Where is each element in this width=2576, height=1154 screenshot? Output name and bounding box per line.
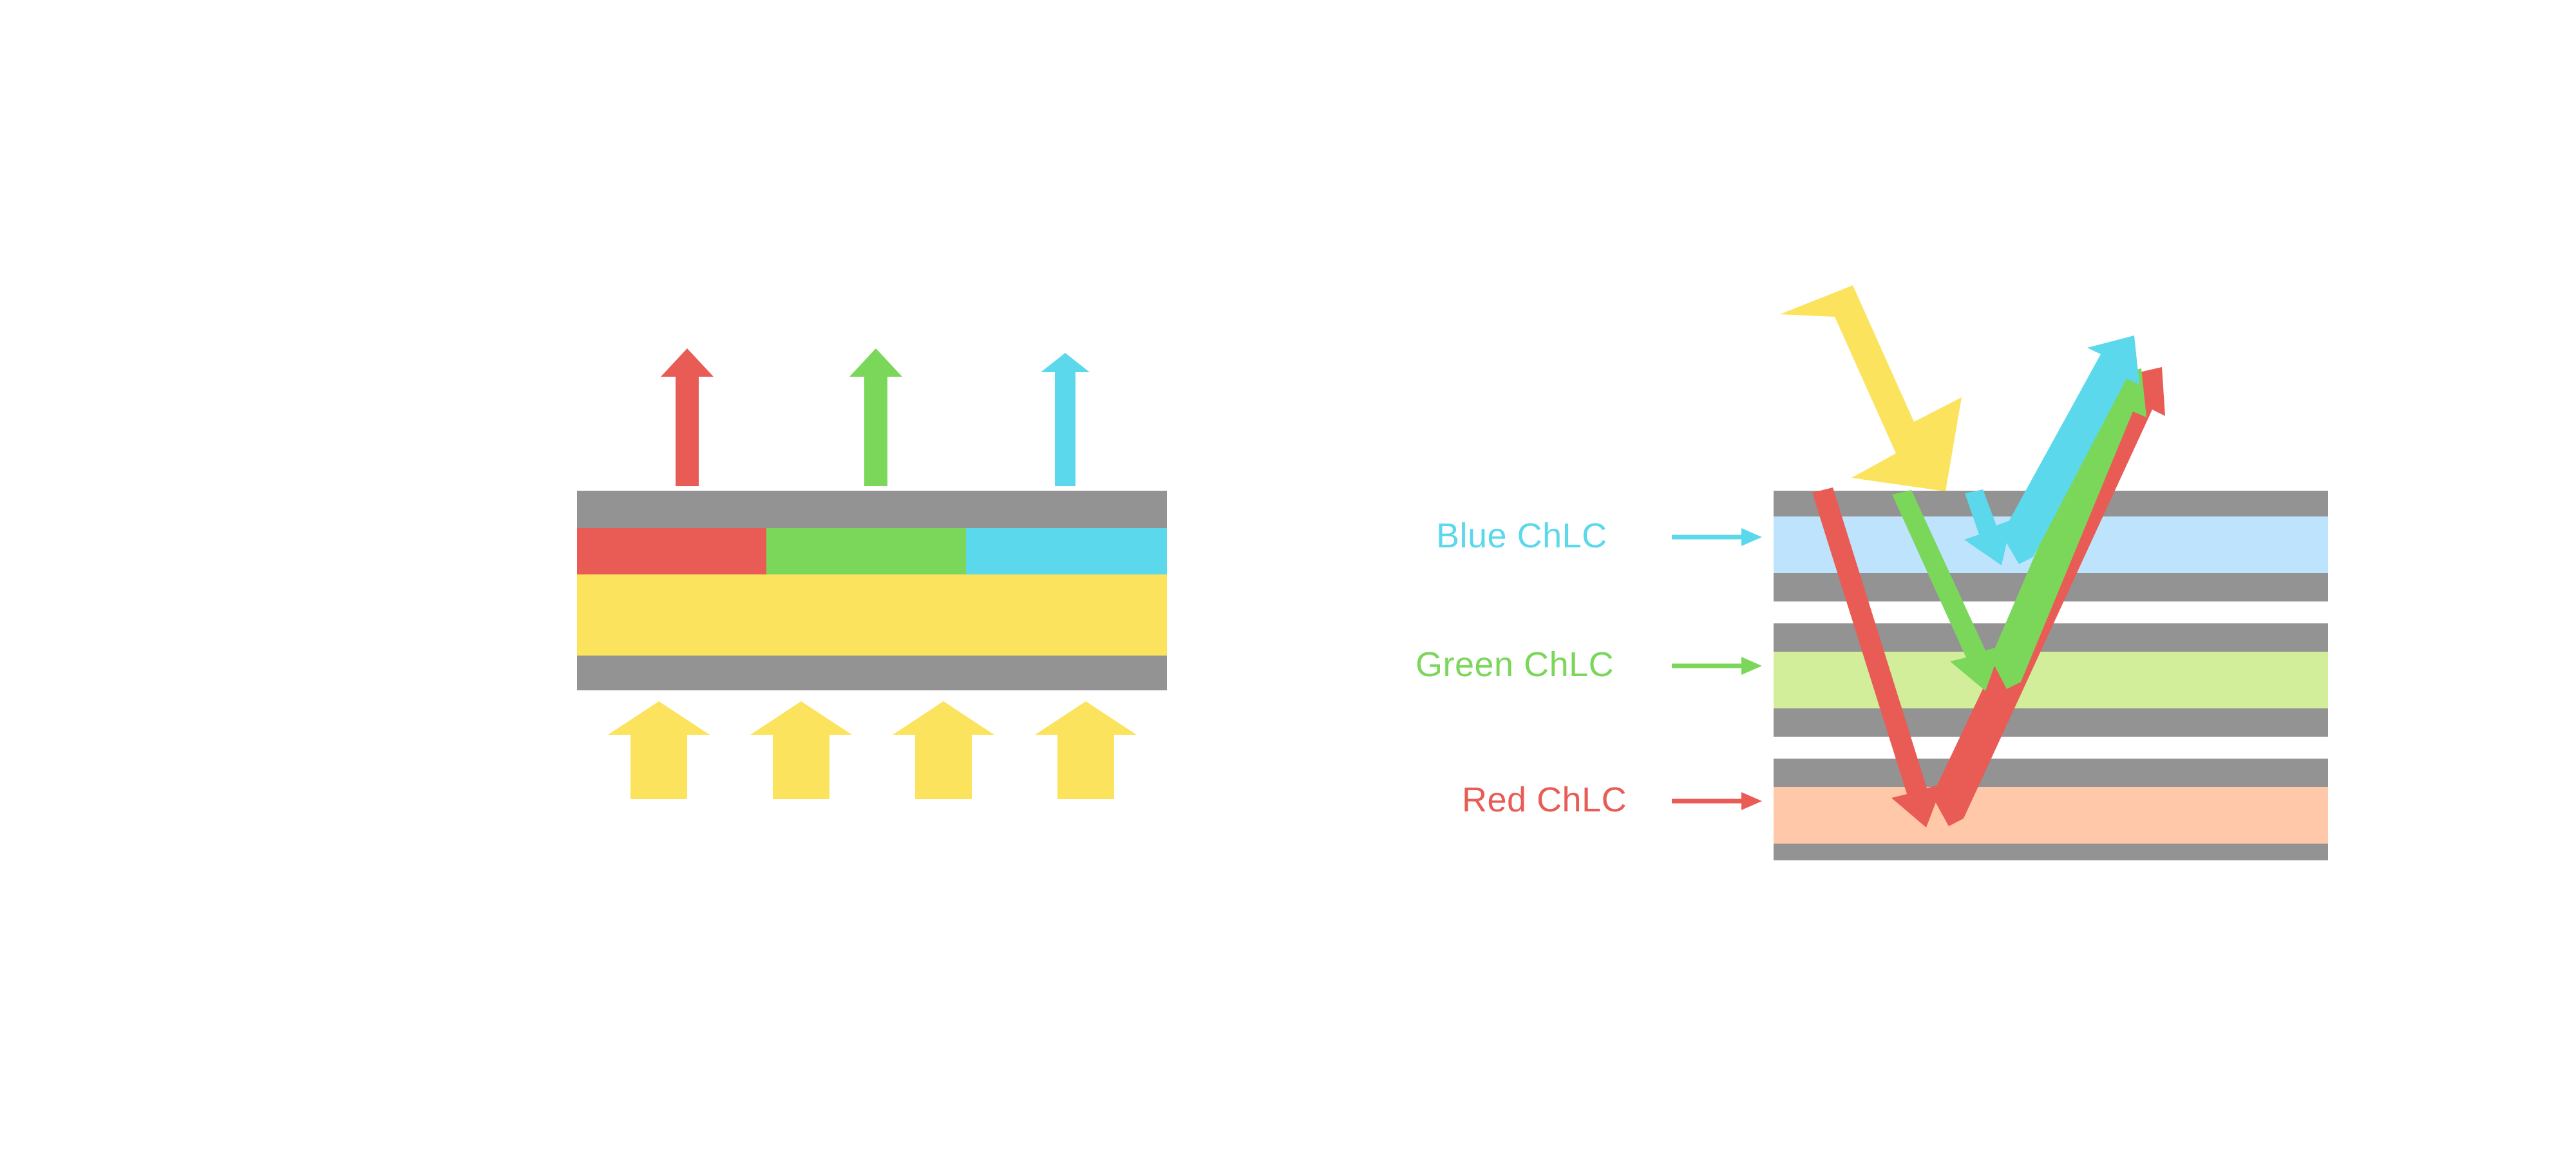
chlc-display-diagram: Blue ChLC Green ChLC Red ChLC xyxy=(0,0,2576,1154)
backlight-arrow xyxy=(750,701,852,799)
red-cell-bottom-electrode xyxy=(1774,844,2328,860)
green-filter-segment xyxy=(766,528,966,574)
green-chlc-cell xyxy=(1774,623,2328,737)
cyan-exit-arrow xyxy=(1041,353,1090,486)
emissive-stack-panel xyxy=(577,348,1167,799)
backlight-arrow xyxy=(608,701,710,799)
label-red-arrow-head xyxy=(1741,792,1762,810)
label-red-chlc-text: Red ChLC xyxy=(1462,780,1627,819)
label-red-chlc-arrow xyxy=(1672,792,1762,810)
green-exit-arrow-shape xyxy=(849,348,902,486)
red-chlc-active-layer xyxy=(1774,787,2328,844)
green-cell-bottom-electrode xyxy=(1774,708,2328,737)
red-chlc-cell xyxy=(1774,759,2328,860)
label-red-chlc: Red ChLC xyxy=(1462,780,1762,819)
cyan-filter-segment xyxy=(966,528,1167,574)
label-blue-chlc-arrow xyxy=(1672,528,1762,546)
incident-light-arrow xyxy=(1780,285,1962,491)
label-blue-chlc: Blue ChLC xyxy=(1436,516,1762,555)
chlc-stack-panel: Blue ChLC Green ChLC Red ChLC xyxy=(1416,285,2328,860)
incident-light-arrow-shape xyxy=(1780,285,1962,491)
green-chlc-active-layer xyxy=(1774,652,2328,708)
backlight-layer xyxy=(577,574,1167,656)
label-green-chlc: Green ChLC xyxy=(1416,645,1762,684)
bottom-electrode-layer xyxy=(577,656,1167,690)
red-exit-arrow-shape xyxy=(661,348,714,486)
backlight-arrows xyxy=(608,701,1137,799)
diagram-canvas: Blue ChLC Green ChLC Red ChLC xyxy=(0,0,2576,1154)
label-green-chlc-text: Green ChLC xyxy=(1416,645,1614,684)
backlight-arrow xyxy=(1035,701,1137,799)
label-blue-arrow-head xyxy=(1741,528,1762,546)
red-cell-top-electrode xyxy=(1774,759,2328,787)
top-electrode-layer xyxy=(577,491,1167,528)
red-filter-segment xyxy=(577,528,766,574)
label-blue-chlc-text: Blue ChLC xyxy=(1436,516,1607,555)
label-green-arrow-head xyxy=(1741,657,1762,675)
backlight-arrow xyxy=(893,701,994,799)
label-green-chlc-arrow xyxy=(1672,657,1762,675)
green-exit-arrow xyxy=(849,348,902,486)
red-exit-arrow xyxy=(661,348,714,486)
cyan-exit-arrow-shape xyxy=(1041,353,1090,486)
